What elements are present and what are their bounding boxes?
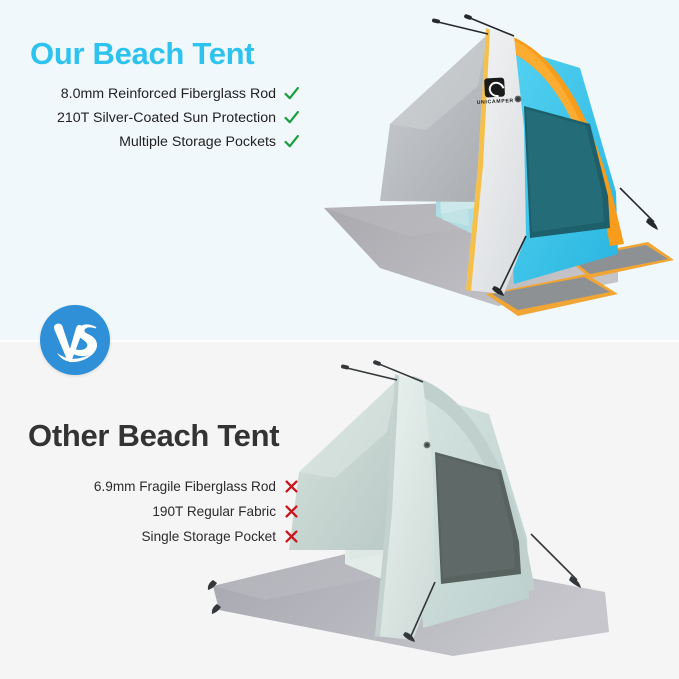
feature-row: 210T Silver-Coated Sun Protection <box>57 109 300 126</box>
check-icon <box>283 109 300 126</box>
cross-icon <box>283 478 300 495</box>
our-tent-feature-list: 8.0mm Reinforced Fiberglass Rod 210T Sil… <box>10 85 300 150</box>
brand-name: UNICAMPER <box>470 98 520 107</box>
vs-badge <box>40 305 110 375</box>
feature-label: 6.9mm Fragile Fiberglass Rod <box>94 479 276 494</box>
cross-icon <box>283 503 300 520</box>
feature-row: 8.0mm Reinforced Fiberglass Rod <box>61 85 300 102</box>
feature-label: 8.0mm Reinforced Fiberglass Rod <box>61 86 276 102</box>
feature-label: 210T Silver-Coated Sun Protection <box>57 110 276 126</box>
check-icon <box>283 133 300 150</box>
our-tent-panel: UNICAMPER Our Beach Tent 8.0mm Reinforce… <box>0 0 679 341</box>
feature-row: 190T Regular Fabric <box>152 503 300 520</box>
feature-label: Single Storage Pocket <box>141 529 276 544</box>
brand-mark-icon <box>484 78 505 98</box>
other-tent-title: Other Beach Tent <box>28 418 279 454</box>
feature-row: 6.9mm Fragile Fiberglass Rod <box>94 478 300 495</box>
check-icon <box>283 85 300 102</box>
feature-row: Multiple Storage Pockets <box>119 133 300 150</box>
feature-row: Single Storage Pocket <box>141 528 300 545</box>
comparison-infographic: UNICAMPER Our Beach Tent 8.0mm Reinforce… <box>0 0 679 679</box>
cross-icon <box>283 528 300 545</box>
feature-label: Multiple Storage Pockets <box>119 134 276 150</box>
unicamper-logo: UNICAMPER <box>469 77 521 116</box>
our-beach-tent-image <box>318 6 679 336</box>
feature-label: 190T Regular Fabric <box>152 504 276 519</box>
other-tent-panel: Other Beach Tent 6.9mm Fragile Fiberglas… <box>0 341 679 679</box>
other-tent-feature-list: 6.9mm Fragile Fiberglass Rod 190T Regula… <box>10 478 300 545</box>
our-tent-title: Our Beach Tent <box>30 36 254 72</box>
